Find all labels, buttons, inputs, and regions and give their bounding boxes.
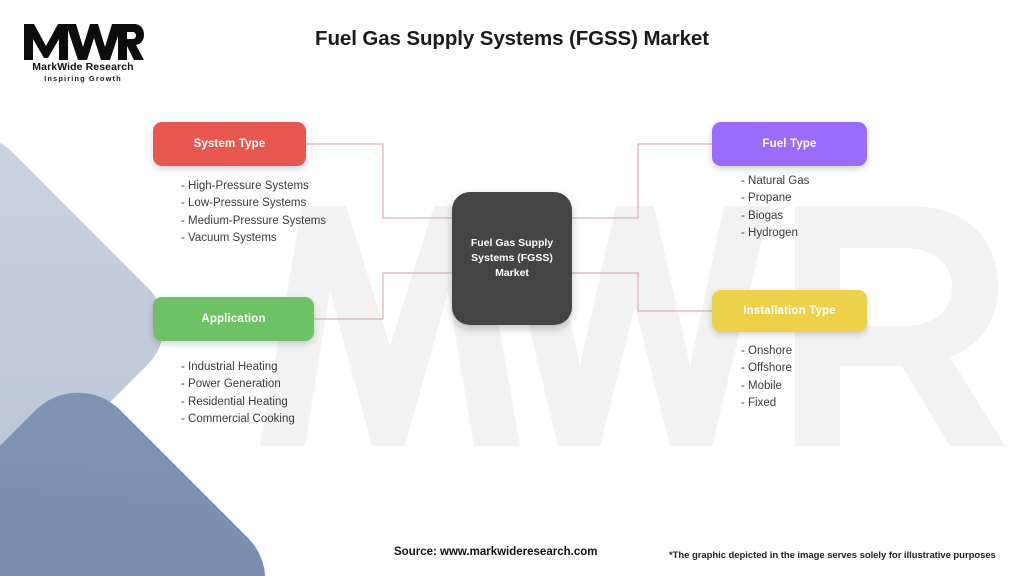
list-item: - Commercial Cooking (181, 411, 295, 428)
center-node-label: Fuel Gas Supply Systems (FGSS) Market (452, 236, 572, 281)
branch-items-application: - Industrial Heating - Power Generation … (181, 359, 295, 429)
list-item: - Biogas (741, 208, 809, 225)
list-item: - Hydrogen (741, 225, 809, 242)
list-item: - Natural Gas (741, 173, 809, 190)
list-item: - Power Generation (181, 376, 295, 393)
list-item: - Residential Heating (181, 394, 295, 411)
list-item: - Onshore (741, 343, 792, 360)
branch-items-fuel-type: - Natural Gas - Propane - Biogas - Hydro… (741, 173, 809, 243)
branch-items-installation-type: - Onshore - Offshore - Mobile - Fixed (741, 343, 792, 413)
list-item: - Mobile (741, 378, 792, 395)
branch-node-installation-type[interactable]: Installation Type (712, 290, 867, 332)
list-item: - Industrial Heating (181, 359, 295, 376)
branch-label-application: Application (201, 313, 265, 325)
connector-fuel-type (572, 144, 712, 218)
branch-node-application[interactable]: Application (153, 297, 314, 341)
branch-items-system-type: - High-Pressure Systems - Low-Pressure S… (181, 178, 326, 248)
list-item: - Propane (741, 190, 809, 207)
infographic-canvas: MarkWide Research Inspiring Growth Fuel … (0, 0, 1024, 576)
branch-label-system-type: System Type (194, 138, 266, 150)
list-item: - Medium-Pressure Systems (181, 213, 326, 230)
connector-installation-type (572, 273, 712, 311)
branch-node-system-type[interactable]: System Type (153, 122, 306, 166)
branch-node-fuel-type[interactable]: Fuel Type (712, 122, 867, 166)
center-node[interactable]: Fuel Gas Supply Systems (FGSS) Market (452, 192, 572, 325)
list-item: - Fixed (741, 395, 792, 412)
branch-label-fuel-type: Fuel Type (762, 138, 816, 150)
list-item: - Offshore (741, 360, 792, 377)
branch-label-installation-type: Installation Type (743, 305, 835, 317)
connector-application (314, 273, 452, 319)
list-item: - Vacuum Systems (181, 230, 326, 247)
connector-system-type (306, 144, 452, 218)
list-item: - High-Pressure Systems (181, 178, 326, 195)
list-item: - Low-Pressure Systems (181, 195, 326, 212)
footer-source: Source: www.markwideresearch.com (394, 546, 597, 558)
footer-disclaimer: *The graphic depicted in the image serve… (669, 550, 996, 561)
